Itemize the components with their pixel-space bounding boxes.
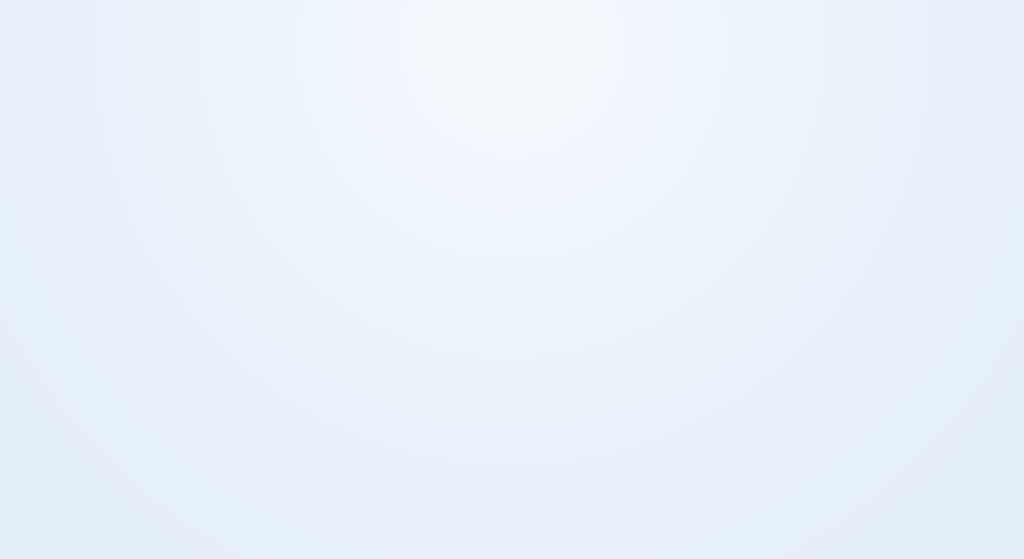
infographic-canvas	[0, 0, 1024, 559]
component-block-market-structure-awareness	[18, 152, 236, 161]
component-block-risk-to-reward-efficiency	[792, 155, 1010, 164]
component-block-liquidity-order-flow-context	[625, 396, 860, 405]
diagram-graphics	[0, 0, 1024, 559]
